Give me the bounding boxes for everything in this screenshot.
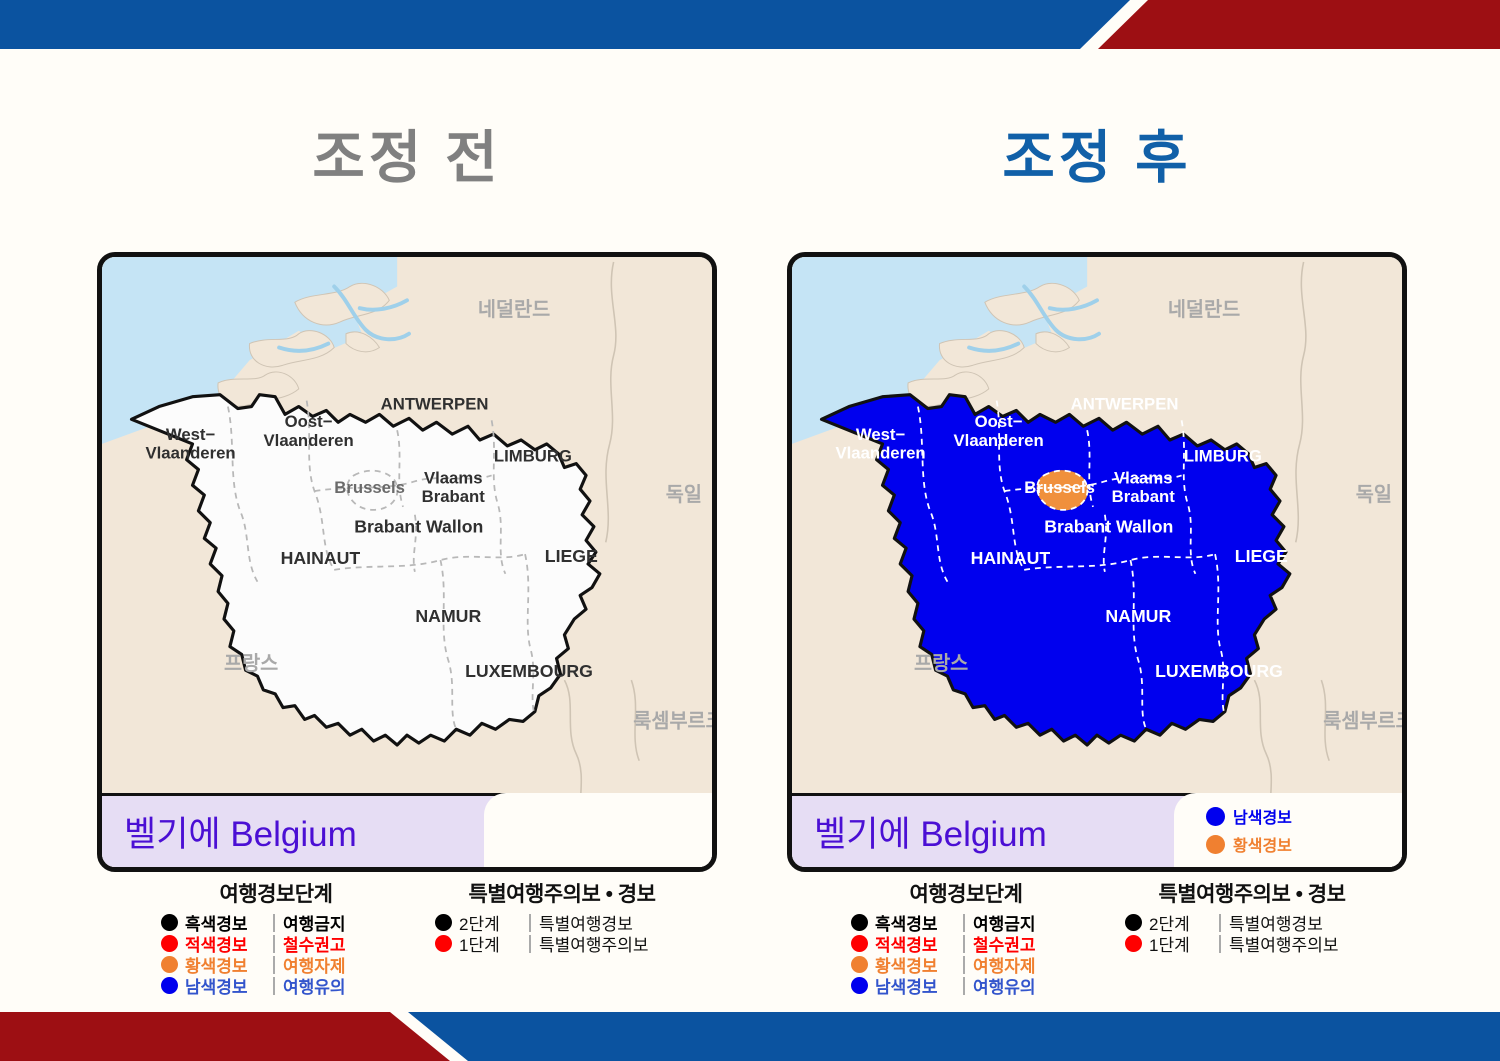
province-label-luxembourg-prov: LUXEMBOURG: [1155, 661, 1283, 681]
legend-special-heading: 특별여행주의보 • 경보: [407, 878, 717, 908]
legend-after: 여행경보단계 흑색경보 여행금지 적색경보 철수권고: [787, 878, 1407, 996]
province-label-hainaut: HAINAUT: [281, 548, 361, 568]
legend-row: 적색경보 철수권고: [161, 933, 397, 954]
panel-after: 조정 후: [787, 0, 1407, 1061]
legend-stage-action: 특별여행주의보: [539, 931, 648, 956]
legend-row: 황색경보 여행자제: [161, 954, 397, 975]
neighbour-label-germany: 독일: [666, 484, 702, 506]
province-label-antwerpen: ANTWERPEN: [381, 395, 489, 414]
legend-divider: [963, 956, 965, 974]
legend-row: 1단계 특별여행주의보: [435, 933, 717, 954]
province-label-namur: NAMUR: [1105, 606, 1171, 626]
legend-special-before: 특별여행주의보 • 경보 2단계 특별여행경보 1단계 특별여행주의보: [397, 878, 717, 996]
country-name-after: 벨기에 Belgium: [792, 806, 1047, 857]
legend-level-action: 여행유의: [973, 973, 1036, 998]
legend-dot-blue-icon: [161, 977, 178, 994]
legend-row: 흑색경보 여행금지: [161, 912, 397, 933]
badge-dot-orange-icon: [1206, 835, 1225, 854]
poster-root: 조정 전: [0, 0, 1500, 1061]
legend-divider: [273, 956, 275, 974]
legend-dot-black-icon: [1125, 914, 1142, 931]
legend-dot-black-icon: [161, 914, 178, 931]
legend-dot-red-icon: [435, 935, 452, 952]
legend-levels-before: 여행경보단계 흑색경보 여행금지 적색경보 철수권고: [97, 878, 397, 996]
province-label-liege: LIEGE: [545, 546, 598, 566]
legend-levels-after: 여행경보단계 흑색경보 여행금지 적색경보 철수권고: [787, 878, 1087, 996]
legend-row: 황색경보 여행자제: [851, 954, 1087, 975]
badge-label: 황색경보: [1233, 832, 1292, 856]
legend-row: 흑색경보 여행금지: [851, 912, 1087, 933]
legend-row: 적색경보 철수권고: [851, 933, 1087, 954]
legend-dot-red-icon: [161, 935, 178, 952]
legend-stage-action: 특별여행주의보: [1229, 931, 1338, 956]
legend-dot-orange-icon: [851, 956, 868, 973]
province-label-luxembourg-prov: LUXEMBOURG: [465, 661, 593, 681]
province-label-hainaut: HAINAUT: [971, 548, 1051, 568]
neighbour-label-luxembourg: 룩셈부르크: [633, 710, 712, 732]
neighbour-label-germany: 독일: [1356, 484, 1392, 506]
legend-level-name: 남색경보: [185, 973, 265, 998]
province-label-antwerpen: ANTWERPEN: [1071, 395, 1179, 414]
legend-stage-name: 1단계: [459, 931, 521, 956]
map-frame-after: 네덜란드 독일 프랑스 룩셈부르크 West−Vlaanderen Oost−V…: [787, 252, 1407, 872]
legend-row: 남색경보 여행유의: [161, 975, 397, 996]
neighbour-label-netherlands: 네덜란드: [478, 299, 550, 321]
badge-box-after: 남색경보 황색경보: [1174, 793, 1402, 867]
country-name-before: 벨기에 Belgium: [102, 806, 357, 857]
country-bar-before: 벨기에 Belgium: [102, 793, 712, 867]
legend-divider: [1219, 935, 1221, 953]
legend-divider: [963, 977, 965, 995]
neighbour-label-luxembourg: 룩셈부르크: [1323, 710, 1402, 732]
legend-special-heading: 특별여행주의보 • 경보: [1097, 878, 1407, 908]
alert-badge: 황색경보: [1206, 832, 1402, 856]
panel-title-before: 조정 전: [97, 112, 717, 194]
neighbour-label-france: 프랑스: [914, 653, 968, 675]
map-canvas-after: 네덜란드 독일 프랑스 룩셈부르크 West−Vlaanderen Oost−V…: [792, 257, 1402, 867]
neighbour-label-netherlands: 네덜란드: [1168, 299, 1240, 321]
legend-dot-black-icon: [851, 914, 868, 931]
legend-divider: [529, 914, 531, 932]
panel-title-after: 조정 후: [787, 112, 1407, 194]
map-frame-before: 네덜란드 독일 프랑스 룩셈부르크 West−Vlaanderen Oost−V…: [97, 252, 717, 872]
province-label-vlaams-brabant: VlaamsBrabant: [1112, 468, 1176, 506]
map-canvas-before: 네덜란드 독일 프랑스 룩셈부르크 West−Vlaanderen Oost−V…: [102, 257, 712, 867]
province-label-namur: NAMUR: [415, 606, 481, 626]
legend-divider: [963, 935, 965, 953]
province-label-liege: LIEGE: [1235, 546, 1288, 566]
legend-levels-heading: 여행경보단계: [845, 878, 1087, 908]
legend-divider: [273, 914, 275, 932]
legend-stage-name: 1단계: [1149, 931, 1211, 956]
province-label-vlaams-brabant: VlaamsBrabant: [422, 468, 486, 506]
badge-dot-blue-icon: [1206, 807, 1225, 826]
legend-special-after: 특별여행주의보 • 경보 2단계 특별여행경보 1단계 특별여행주의보: [1087, 878, 1407, 996]
province-label-brussels: Brussels: [1024, 478, 1095, 497]
legend-divider: [529, 935, 531, 953]
legend-divider: [1219, 914, 1221, 932]
legend-row: 2단계 특별여행경보: [1125, 912, 1407, 933]
badge-box-before: [484, 793, 712, 867]
legend-dot-black-icon: [435, 914, 452, 931]
legend-dot-orange-icon: [161, 956, 178, 973]
belgium-map-before: 네덜란드 독일 프랑스 룩셈부르크 West−Vlaanderen Oost−V…: [102, 257, 712, 867]
legend-dot-red-icon: [851, 935, 868, 952]
legend-divider: [273, 977, 275, 995]
legend-before: 여행경보단계 흑색경보 여행금지 적색경보 철수권고: [97, 878, 717, 996]
legend-row: 2단계 특별여행경보: [435, 912, 717, 933]
province-label-limburg: LIMBURG: [494, 447, 572, 466]
country-bar-after: 벨기에 Belgium 남색경보 황색경보: [792, 793, 1402, 867]
legend-dot-blue-icon: [851, 977, 868, 994]
province-label-brabant-wallon: Brabant Wallon: [1044, 516, 1173, 536]
neighbour-label-france: 프랑스: [224, 653, 278, 675]
badge-label: 남색경보: [1233, 804, 1292, 828]
legend-row: 1단계 특별여행주의보: [1125, 933, 1407, 954]
legend-divider: [963, 914, 965, 932]
legend-levels-heading: 여행경보단계: [155, 878, 397, 908]
legend-dot-red-icon: [1125, 935, 1142, 952]
province-label-brabant-wallon: Brabant Wallon: [354, 516, 483, 536]
belgium-map-after: 네덜란드 독일 프랑스 룩셈부르크 West−Vlaanderen Oost−V…: [792, 257, 1402, 867]
panel-before: 조정 전: [97, 0, 717, 1061]
legend-level-action: 여행유의: [283, 973, 346, 998]
legend-level-name: 남색경보: [875, 973, 955, 998]
legend-row: 남색경보 여행유의: [851, 975, 1087, 996]
province-label-limburg: LIMBURG: [1184, 447, 1262, 466]
alert-badge: 남색경보: [1206, 804, 1402, 828]
legend-divider: [273, 935, 275, 953]
province-label-brussels: Brussels: [334, 478, 405, 497]
